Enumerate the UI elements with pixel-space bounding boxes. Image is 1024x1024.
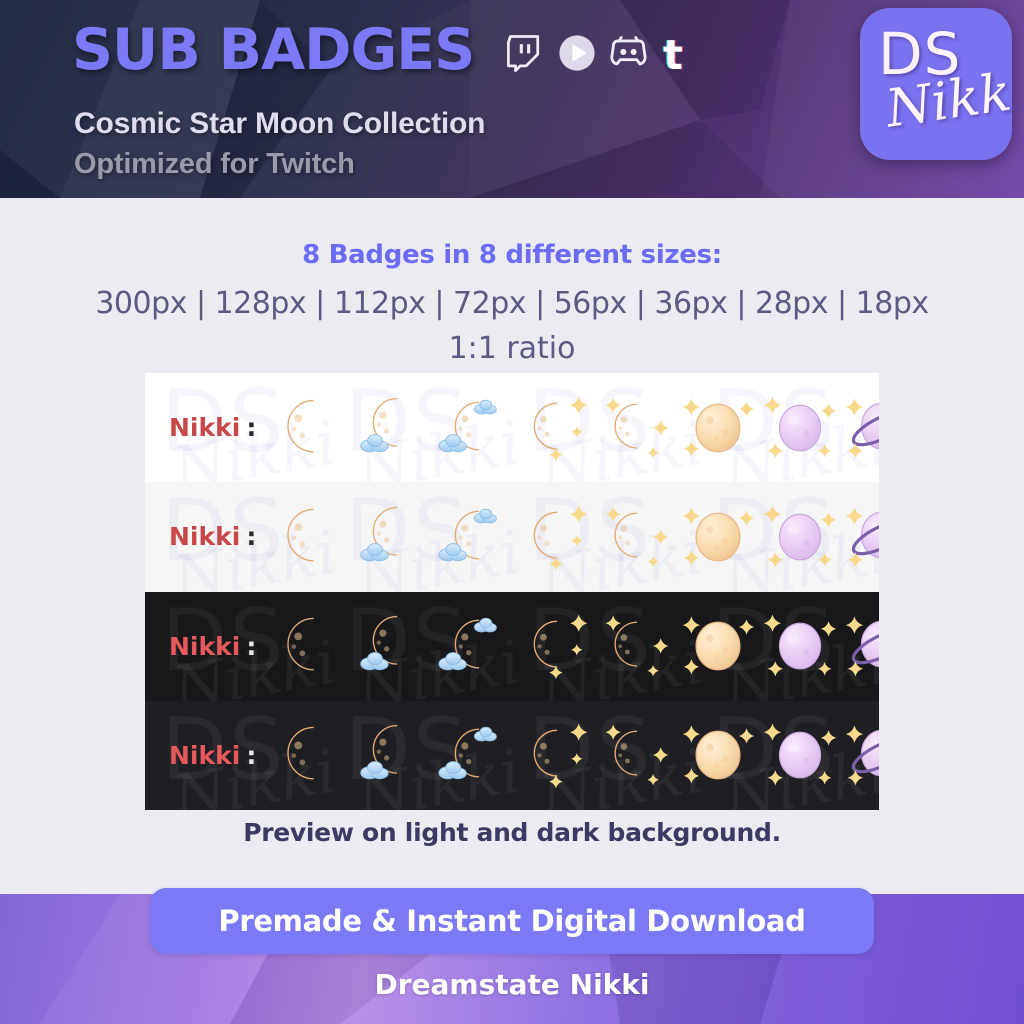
badge-strip [270, 608, 879, 684]
chat-username: Nikki: [169, 632, 256, 661]
preview-panel: DSNikkiDSNikkiDSNikkiDSNikkiNikki: [145, 373, 879, 810]
crescent-moon-cloud-badge[interactable] [352, 499, 428, 575]
header-banner: SUB BADGES t t t Cosmic [0, 0, 1024, 198]
chat-username-text: Nikki [169, 522, 240, 551]
cta-button[interactable]: Premade & Instant Digital Download [150, 888, 874, 954]
preview-caption: Preview on light and dark background. [0, 818, 1024, 847]
crescent-moon-double-cloud-badge[interactable] [434, 499, 510, 575]
crescent-moon-cloud-badge[interactable] [352, 717, 428, 793]
chat-colon: : [246, 632, 256, 661]
tiktok-icon[interactable]: t t t [658, 30, 690, 76]
crescent-moon-star-badge[interactable] [598, 390, 674, 466]
purple-planet-badge[interactable] [762, 608, 838, 684]
purple-planet-badge[interactable] [762, 499, 838, 575]
crescent-moon-star-badge[interactable] [598, 499, 674, 575]
light-row-1: DSNikkiDSNikkiDSNikkiDSNikkiNikki: [145, 373, 879, 482]
ringed-planet-badge[interactable] [844, 499, 879, 575]
header-subtitle: Cosmic Star Moon Collection [74, 107, 485, 141]
crescent-moon-star-badge[interactable] [598, 608, 674, 684]
dark-row-2: DSNikkiDSNikkiDSNikkiDSNikkiNikki: [145, 701, 879, 810]
ringed-planet-badge[interactable] [844, 608, 879, 684]
badge-sizes-list: 300px | 128px | 112px | 72px | 56px | 36… [0, 286, 1024, 321]
ringed-planet-badge[interactable] [844, 390, 879, 466]
crescent-moon-double-cloud-badge[interactable] [434, 390, 510, 466]
purple-planet-badge[interactable] [762, 717, 838, 793]
brand-name: Dreamstate Nikki [0, 968, 1024, 1001]
chat-username: Nikki: [169, 741, 256, 770]
badge-strip [270, 499, 879, 575]
badge-count-heading: 8 Badges in 8 different sizes: [0, 240, 1024, 270]
info-section: 8 Badges in 8 different sizes: 300px | 1… [0, 198, 1024, 366]
brand-logo: DS Nikki [860, 8, 1012, 160]
chat-username: Nikki: [169, 413, 256, 442]
crescent-moon-badge[interactable] [270, 390, 346, 466]
full-moon-sparkle-badge[interactable] [680, 499, 756, 575]
chat-username-text: Nikki [169, 741, 240, 770]
badge-strip [270, 390, 879, 466]
full-moon-sparkle-badge[interactable] [680, 390, 756, 466]
crescent-moon-sparkle-badge[interactable] [516, 499, 592, 575]
chat-colon: : [246, 522, 256, 551]
crescent-moon-cloud-badge[interactable] [352, 390, 428, 466]
chat-username-text: Nikki [169, 413, 240, 442]
page-title: SUB BADGES [72, 22, 474, 79]
ringed-planet-badge[interactable] [844, 717, 879, 793]
crescent-moon-star-badge[interactable] [598, 717, 674, 793]
aspect-ratio-label: 1:1 ratio [0, 331, 1024, 366]
svg-text:t: t [664, 30, 683, 75]
crescent-moon-sparkle-badge[interactable] [516, 717, 592, 793]
dark-row-1: DSNikkiDSNikkiDSNikkiDSNikkiNikki: [145, 592, 879, 701]
badge-strip [270, 717, 879, 793]
crescent-moon-badge[interactable] [270, 499, 346, 575]
crescent-moon-badge[interactable] [270, 608, 346, 684]
header-subtitle-secondary: Optimized for Twitch [74, 148, 355, 181]
social-icon-group: t t t [504, 30, 690, 76]
twitch-icon[interactable] [504, 31, 548, 75]
chat-username: Nikki: [169, 522, 256, 551]
chat-colon: : [246, 741, 256, 770]
crescent-moon-sparkle-badge[interactable] [516, 608, 592, 684]
header-title-row: SUB BADGES t t t [72, 22, 690, 79]
purple-planet-badge[interactable] [762, 390, 838, 466]
crescent-moon-badge[interactable] [270, 717, 346, 793]
crescent-moon-double-cloud-badge[interactable] [434, 608, 510, 684]
crescent-moon-double-cloud-badge[interactable] [434, 717, 510, 793]
chat-username-text: Nikki [169, 632, 240, 661]
light-row-2: DSNikkiDSNikkiDSNikkiDSNikkiNikki: [145, 482, 879, 591]
youtube-icon[interactable] [554, 30, 600, 76]
crescent-moon-cloud-badge[interactable] [352, 608, 428, 684]
full-moon-sparkle-badge[interactable] [680, 608, 756, 684]
chat-colon: : [246, 413, 256, 442]
crescent-moon-sparkle-badge[interactable] [516, 390, 592, 466]
full-moon-sparkle-badge[interactable] [680, 717, 756, 793]
discord-icon[interactable] [606, 30, 652, 76]
